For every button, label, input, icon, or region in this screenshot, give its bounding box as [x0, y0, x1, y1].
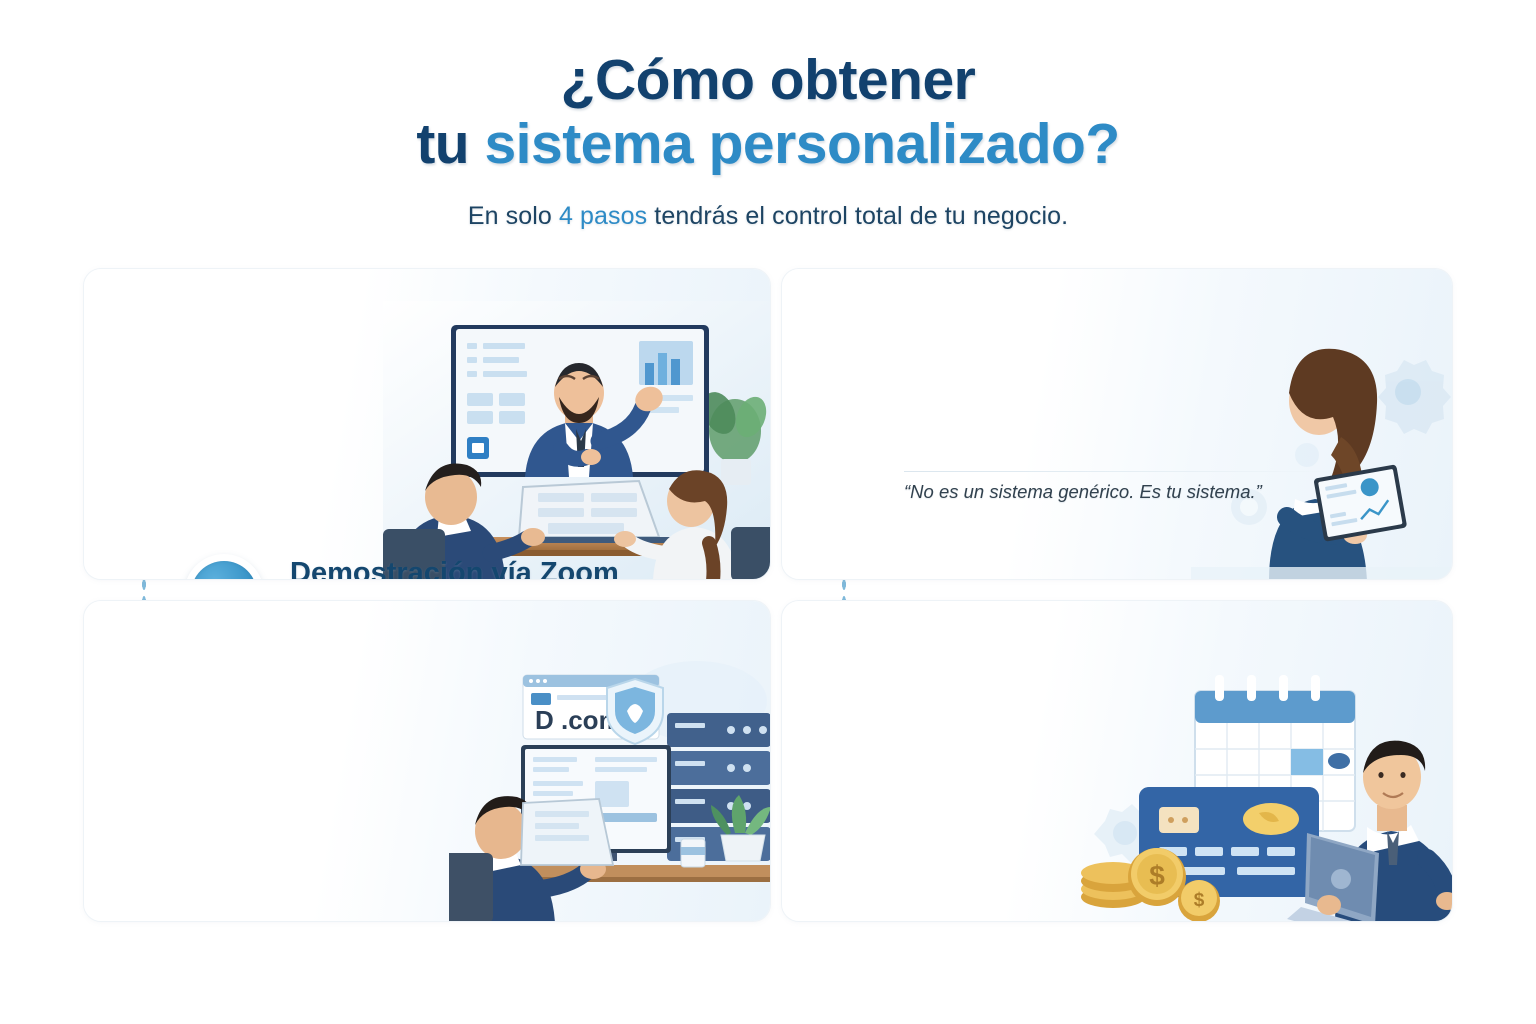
badge-number: 01: [207, 575, 242, 580]
page-subtitle: En solo 4 pasos tendrás el control total…: [0, 180, 1536, 231]
step-card-02[interactable]: 02 Personalizamos tu sistema a medida Ad…: [781, 268, 1453, 580]
page-title-line2: tu sistema personalizado?: [0, 109, 1536, 180]
step-card-03[interactable]: D .com: [83, 600, 771, 922]
badge-disc: 01: [191, 561, 257, 580]
title-plain: tu: [416, 112, 484, 176]
step-quote-02: “No es un sistema genérico. Es tu sistem…: [904, 481, 1262, 503]
step-card-04[interactable]: $ $: [781, 600, 1453, 922]
title-accent: sistema personalizado?: [484, 112, 1119, 176]
subtitle-part1: En solo: [468, 202, 559, 230]
card-background-wash: [84, 601, 770, 921]
page-header: ¿Cómo obtener tu sistema personalizado? …: [0, 0, 1536, 231]
subtitle-part2: tendrás el control total de tu negocio.: [647, 202, 1068, 230]
page-title-line1: ¿Cómo obtener: [0, 0, 1536, 109]
step-heading-01: Demostración vía Zoom: [290, 557, 619, 580]
step-card-01[interactable]: 01 Demostración vía Zoom Te mostramos el…: [83, 268, 771, 580]
subtitle-accent: 4 pasos: [559, 202, 647, 230]
card-background-wash: [782, 601, 1452, 921]
card-background-wash: [84, 269, 770, 579]
quote-divider: [904, 471, 1336, 472]
card-background-wash: [782, 269, 1452, 579]
